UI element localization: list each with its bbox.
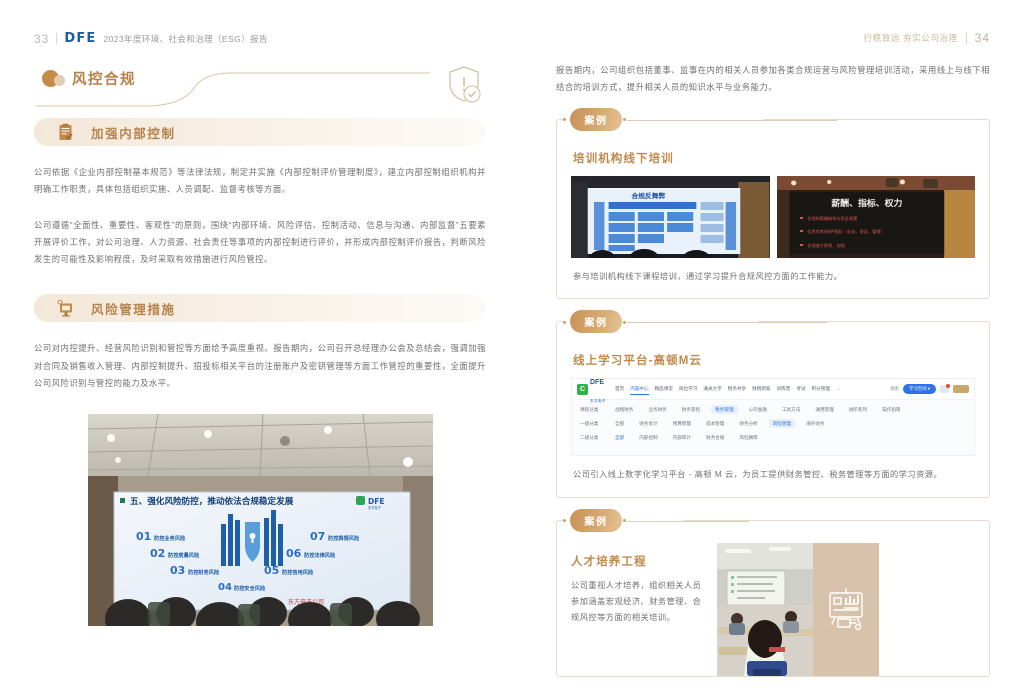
- filter-chip[interactable]: 财务管控: [678, 405, 704, 414]
- case-title: 线上学习平台-高顿M云: [573, 352, 975, 368]
- filter-chip[interactable]: 业务财务: [644, 405, 670, 414]
- case-caption: 参与培训机构线下课程培训，通过学习提升合规风控方面的工作能力。: [573, 269, 975, 285]
- filter-chip[interactable]: 财务合规: [702, 433, 728, 442]
- svg-text:05: 05: [264, 564, 279, 577]
- svg-text:合理的薪酬结构与奖金政策: 合理的薪酬结构与奖金政策: [807, 215, 857, 221]
- svg-text:01: 01: [136, 530, 151, 543]
- subsection-header-risk-management: 风险管理措施: [34, 294, 486, 322]
- brand-logo-text: DFE: [64, 31, 96, 46]
- svg-text:07: 07: [310, 530, 325, 543]
- filter-row-level1: 一级分类 全部 财务会计 预算管理 成本管理 财务分析 风险管理 海外财务: [580, 419, 966, 428]
- nav-item[interactable]: 考试: [796, 386, 805, 392]
- case-card-online-platform: 案例 线上学习平台-高顿M云 C DFE 东方电子 首页 内容中心 精品课堂: [556, 321, 990, 498]
- nav-item-active[interactable]: 内容中心: [630, 386, 648, 392]
- platform-logo-text: DFE: [590, 379, 604, 386]
- case-badge: 案例: [570, 310, 622, 333]
- case-dot-left: [563, 321, 566, 324]
- nav-item[interactable]: 财税新知: [752, 386, 770, 392]
- svg-text:防控法律风险: 防控法律风险: [304, 551, 336, 559]
- svg-text:06: 06: [286, 547, 302, 560]
- filter-chip[interactable]: 内部审计: [669, 433, 695, 442]
- header-divider: [56, 33, 57, 44]
- subsection-title: 加强内部控制: [91, 123, 176, 142]
- clipboard-checklist-icon: [56, 123, 75, 142]
- svg-text:五、强化风险防控，推动依法合规稳定发展: 五、强化风险防控，推动依法合规稳定发展: [130, 495, 294, 507]
- case-badge: 案例: [570, 509, 622, 532]
- case-rule: [627, 120, 837, 121]
- case-dot-left: [563, 118, 566, 121]
- report-page: 33 DFE 2023年度环境、社会和治理（ESG）报告 行稳致远 夯实公司治理…: [0, 0, 1024, 695]
- talent-layout: 人才培养工程 公司重视人才培养，组织相关人员参加涵盖宏观经济、财务管理、合规风控…: [557, 543, 989, 676]
- case-title: 培训机构线下培训: [573, 150, 975, 166]
- case-dot-right: [623, 118, 626, 121]
- svg-text:信息的考核KPI指标（业务、财务、管理）: 信息的考核KPI指标（业务、财务、管理）: [807, 228, 884, 234]
- header-divider-right: [966, 33, 967, 44]
- case-caption: 公司引入线上数字化学习平台 - 高顿 M 云，为员工提供财务管控、税务管理等方面…: [573, 467, 975, 483]
- svg-text:防控财务风险: 防控财务风险: [188, 568, 220, 576]
- case-card-offline-training: 案例 培训机构线下培训 合规反舞弊: [556, 119, 990, 300]
- filter-chip[interactable]: 工具方法: [778, 405, 804, 414]
- case-images: 合规反舞弊: [571, 176, 975, 258]
- filter-chip[interactable]: 通用管理: [811, 405, 837, 414]
- filter-chip[interactable]: 内部控制: [635, 433, 661, 442]
- platform-logo-mark: C: [577, 384, 588, 395]
- paragraph-internal-control-1: 公司依据《企业内部控制基本规范》等法律法规，制定并实施《内部控制评价管理制度》，…: [34, 164, 486, 199]
- svg-text:合理放大职权、加强: 合理放大职权、加强: [807, 242, 845, 248]
- svg-text:防控舆情风险: 防控舆情风险: [328, 534, 360, 542]
- platform-filters: 课程分类 战略财务 业务财务 财务管控 税务管理 公司金融 工具方法 通用管理 …: [572, 400, 974, 452]
- nav-item[interactable]: 精品课堂: [655, 386, 673, 392]
- header-right: 行稳致远 夯实公司治理 34: [864, 31, 990, 45]
- svg-text:防控质量风险: 防控质量风险: [168, 551, 200, 559]
- platform-logo: C DFE 东方电子: [577, 378, 606, 407]
- paragraph-risk-management-1: 公司对内控提升、经营风险识别和管控等方面给予高度重视。报告期内，公司召开总经理办…: [34, 340, 486, 392]
- filter-chip[interactable]: 风险舞弊: [735, 433, 761, 442]
- filter-chip[interactable]: 战略财务: [611, 405, 637, 414]
- case-card-talent-development: 案例 人才培养工程 公司重视人才培养，组织相关人员参加涵盖宏观经济、财务管理、合…: [556, 520, 990, 677]
- section-name: 行稳致远 夯实公司治理: [864, 32, 958, 44]
- classroom-training-photo: [717, 543, 813, 676]
- svg-text:防控业务风险: 防控业务风险: [154, 534, 186, 542]
- training-slide-photo-right: 薪酬、指标、权力 合理的薪酬结构与奖金政策 信息的考核KPI指标（业务、财务、管…: [777, 176, 976, 258]
- nav-item[interactable]: 税务共享: [728, 386, 746, 392]
- header-left: 33 DFE 2023年度环境、社会和治理（ESG）报告: [34, 31, 268, 46]
- presentation-board-icon: [813, 543, 879, 676]
- case-rule: [627, 322, 827, 323]
- training-slide-photo-left: 合规反舞弊: [571, 176, 770, 258]
- nav-item[interactable]: 岗位学习: [679, 386, 697, 392]
- avatar[interactable]: [953, 385, 969, 393]
- platform-logo-subtext: 东方电子: [590, 399, 606, 403]
- case-rule: [627, 521, 749, 522]
- nav-more-icon[interactable]: ···: [836, 387, 841, 392]
- case-dot-right: [623, 321, 626, 324]
- message-icon[interactable]: [940, 385, 949, 393]
- svg-text:东方电子: 东方电子: [368, 505, 382, 510]
- case-badge: 案例: [570, 108, 622, 131]
- filter-chip[interactable]: 海外财务: [802, 419, 828, 428]
- chapter-heading: 风控合规: [34, 62, 486, 110]
- filter-chip-active[interactable]: 税务管理: [711, 405, 737, 414]
- platform-topbar: C DFE 东方电子 首页 内容中心 精品课堂 岗位学习 通关大学 税务共享 财: [572, 379, 974, 400]
- search-icon[interactable]: 搜索: [890, 386, 899, 392]
- svg-text:防控信用风险: 防控信用风险: [282, 568, 314, 576]
- filter-chip-active[interactable]: 风险管理: [769, 419, 795, 428]
- case-title: 人才培养工程: [571, 553, 705, 569]
- subsection-title: 风险管理措施: [91, 299, 176, 318]
- chapter-title: 风控合规: [72, 68, 136, 89]
- filter-chip[interactable]: 财务会计: [635, 419, 661, 428]
- case-body: 公司重视人才培养，组织相关人员参加涵盖宏观经济、财务管理、合规风控等方面的相关培…: [571, 578, 705, 627]
- svg-text:04: 04: [218, 582, 232, 593]
- nav-item[interactable]: 通关大学: [703, 386, 721, 392]
- filter-label: 二级分类: [580, 435, 604, 441]
- filter-row-course-category: 课程分类 战略财务 业务财务 财务管控 税务管理 公司金融 工具方法 通用管理 …: [580, 405, 966, 414]
- page-number-right: 34: [975, 31, 990, 45]
- paragraph-internal-control-2: 公司遵循“全面性、重要性、客观性”的原则，围绕“内部环境、风险评估、控制活动、信…: [34, 217, 486, 269]
- talent-text-block: 人才培养工程 公司重视人才培养，组织相关人员参加涵盖宏观经济、财务管理、合规风控…: [557, 543, 717, 676]
- right-column: 报告期内，公司组织包括董事、监事在内的相关人员参加各类合规运营与风险管理培训活动…: [556, 62, 990, 677]
- filter-label: 一级分类: [580, 421, 604, 427]
- risk-monitor-icon: [56, 299, 75, 318]
- svg-text:合规反舞弊: 合规反舞弊: [630, 191, 665, 200]
- filter-label: 课程分类: [580, 407, 604, 413]
- nav-item[interactable]: 训练营: [777, 386, 791, 392]
- paragraph-training-intro: 报告期内，公司组织包括董事、监事在内的相关人员参加各类合规运营与风险管理培训活动…: [556, 62, 990, 97]
- svg-text:防控安全风险: 防控安全风险: [234, 584, 266, 592]
- nav-item[interactable]: 首页: [615, 386, 624, 392]
- filter-chip[interactable]: 预算管理: [669, 419, 695, 428]
- conference-presentation-photo: 五、强化风险防控，推动依法合规稳定发展 DFE 东方电子: [88, 414, 433, 626]
- nav-item[interactable]: 积分管理: [812, 386, 830, 392]
- subsection-header-internal-control: 加强内部控制: [34, 118, 486, 146]
- brand-logo: DFE: [64, 31, 96, 46]
- filter-chip[interactable]: 全部: [611, 419, 628, 428]
- svg-text:02: 02: [150, 547, 165, 560]
- filter-chip[interactable]: 操作指南: [878, 405, 904, 414]
- platform-topbar-right: 搜索 学习空间 ▾: [890, 384, 969, 394]
- filter-chip[interactable]: 成本管理: [702, 419, 728, 428]
- filter-chip[interactable]: 公司金融: [745, 405, 771, 414]
- left-column: 风控合规 加强内部控制: [34, 62, 486, 626]
- study-space-button[interactable]: 学习空间 ▾: [903, 384, 936, 394]
- chapter-bullet-light: [54, 75, 65, 86]
- online-learning-platform-screenshot: C DFE 东方电子 首页 内容中心 精品课堂 岗位学习 通关大学 税务共享 财: [571, 378, 975, 456]
- platform-nav[interactable]: 首页 内容中心 精品课堂 岗位学习 通关大学 税务共享 财税新知 训练营 考试 …: [615, 386, 841, 392]
- filter-chip-active[interactable]: 全部: [611, 433, 628, 442]
- report-title: 2023年度环境、社会和治理（ESG）报告: [104, 33, 268, 45]
- filter-chip[interactable]: 财务分析: [735, 419, 761, 428]
- svg-text:薪酬、指标、权力: 薪酬、指标、权力: [831, 197, 902, 209]
- svg-text:03: 03: [170, 564, 185, 577]
- filter-chip[interactable]: 进阶系列: [845, 405, 871, 414]
- svg-text:DFE: DFE: [368, 497, 384, 506]
- filter-row-level2: 二级分类 全部 内部控制 内部审计 财务合规 风险舞弊: [580, 433, 966, 442]
- shield-check-icon: [444, 64, 484, 106]
- page-number-left: 33: [34, 32, 49, 46]
- talent-media: [717, 543, 989, 676]
